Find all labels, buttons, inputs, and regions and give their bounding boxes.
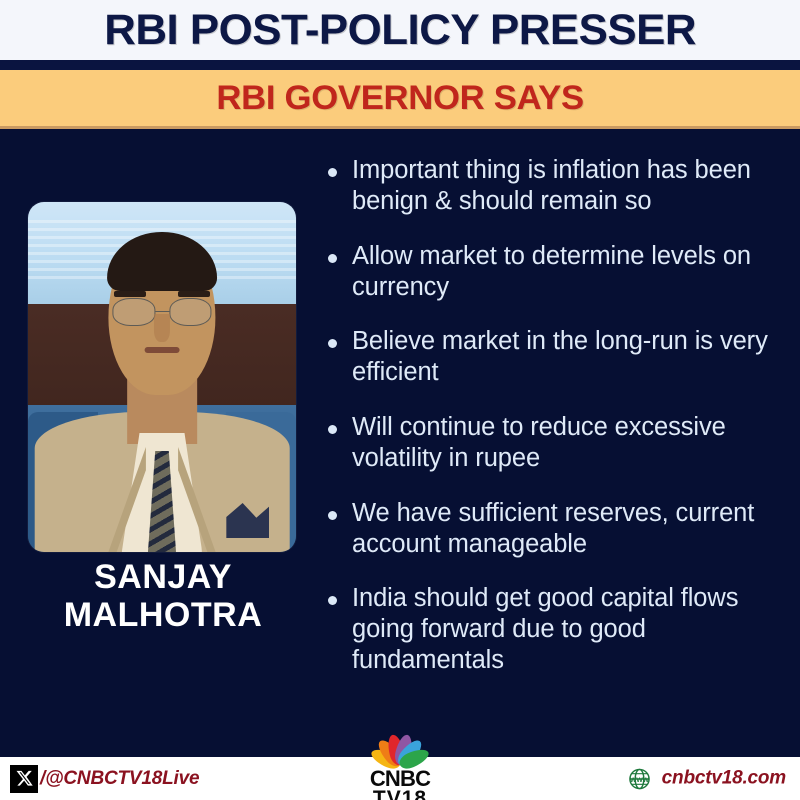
quote-text: India should get good capital flows goin… <box>352 583 790 676</box>
cnbc-tv18-logo: CNBC TV18 <box>342 727 458 800</box>
subheadline-band: RBI GOVERNOR SAYS <box>0 70 800 126</box>
bullet-dot-icon <box>328 511 337 520</box>
website-text[interactable]: cnbctv18.com <box>662 768 786 790</box>
globe-www-icon: WWW <box>628 767 651 790</box>
bullet-dot-icon <box>328 596 337 605</box>
page-title: RBI POST-POLICY PRESSER <box>104 6 696 55</box>
person-name-line1: SANJAY <box>18 558 308 596</box>
quote-text: Important thing is inflation has been be… <box>352 155 790 217</box>
quote-text: Believe market in the long-run is very e… <box>352 326 790 388</box>
quote-text: Allow market to determine levels on curr… <box>352 241 790 303</box>
x-handle-text[interactable]: /@CNBCTV18Live <box>40 768 199 790</box>
cnbc-brand-line1: CNBC <box>342 769 458 789</box>
list-item: Allow market to determine levels on curr… <box>328 241 790 303</box>
list-item: We have sufficient reserves, current acc… <box>328 498 790 560</box>
bullet-dot-icon <box>328 254 337 263</box>
list-item: Will continue to reduce excessive volati… <box>328 412 790 474</box>
svg-text:WWW: WWW <box>630 776 650 783</box>
photo-eyebrow-left <box>114 291 146 297</box>
nbc-peacock-icon <box>363 727 437 767</box>
bullet-dot-icon <box>328 339 337 348</box>
person-name: SANJAY MALHOTRA <box>18 558 308 634</box>
list-item: India should get good capital flows goin… <box>328 583 790 676</box>
quote-text: Will continue to reduce excessive volati… <box>352 412 790 474</box>
website-group[interactable]: WWW cnbctv18.com <box>628 767 786 790</box>
person-name-line2: MALHOTRA <box>18 596 308 634</box>
bullet-dot-icon <box>328 168 337 177</box>
list-item: Believe market in the long-run is very e… <box>328 326 790 388</box>
quote-list: Important thing is inflation has been be… <box>328 155 790 676</box>
bullet-dot-icon <box>328 425 337 434</box>
photo-eyebrow-right <box>178 291 210 297</box>
subtitle: RBI GOVERNOR SAYS <box>216 79 583 118</box>
x-twitter-icon[interactable] <box>10 765 38 793</box>
quote-text: We have sufficient reserves, current acc… <box>352 498 790 560</box>
photo-nose <box>154 314 170 342</box>
photo-mouth <box>145 347 180 353</box>
social-handle-group[interactable]: /@CNBCTV18Live <box>10 765 199 793</box>
cnbc-wordmark: CNBC TV18 <box>342 769 458 800</box>
portrait-photo <box>28 202 296 552</box>
header-divider <box>0 60 800 70</box>
list-item: Important thing is inflation has been be… <box>328 155 790 217</box>
news-graphic-card: RBI POST-POLICY PRESSER RBI GOVERNOR SAY… <box>0 0 800 800</box>
cnbc-brand-line2: TV18 <box>342 789 458 800</box>
headline-band: RBI POST-POLICY PRESSER <box>0 0 800 60</box>
